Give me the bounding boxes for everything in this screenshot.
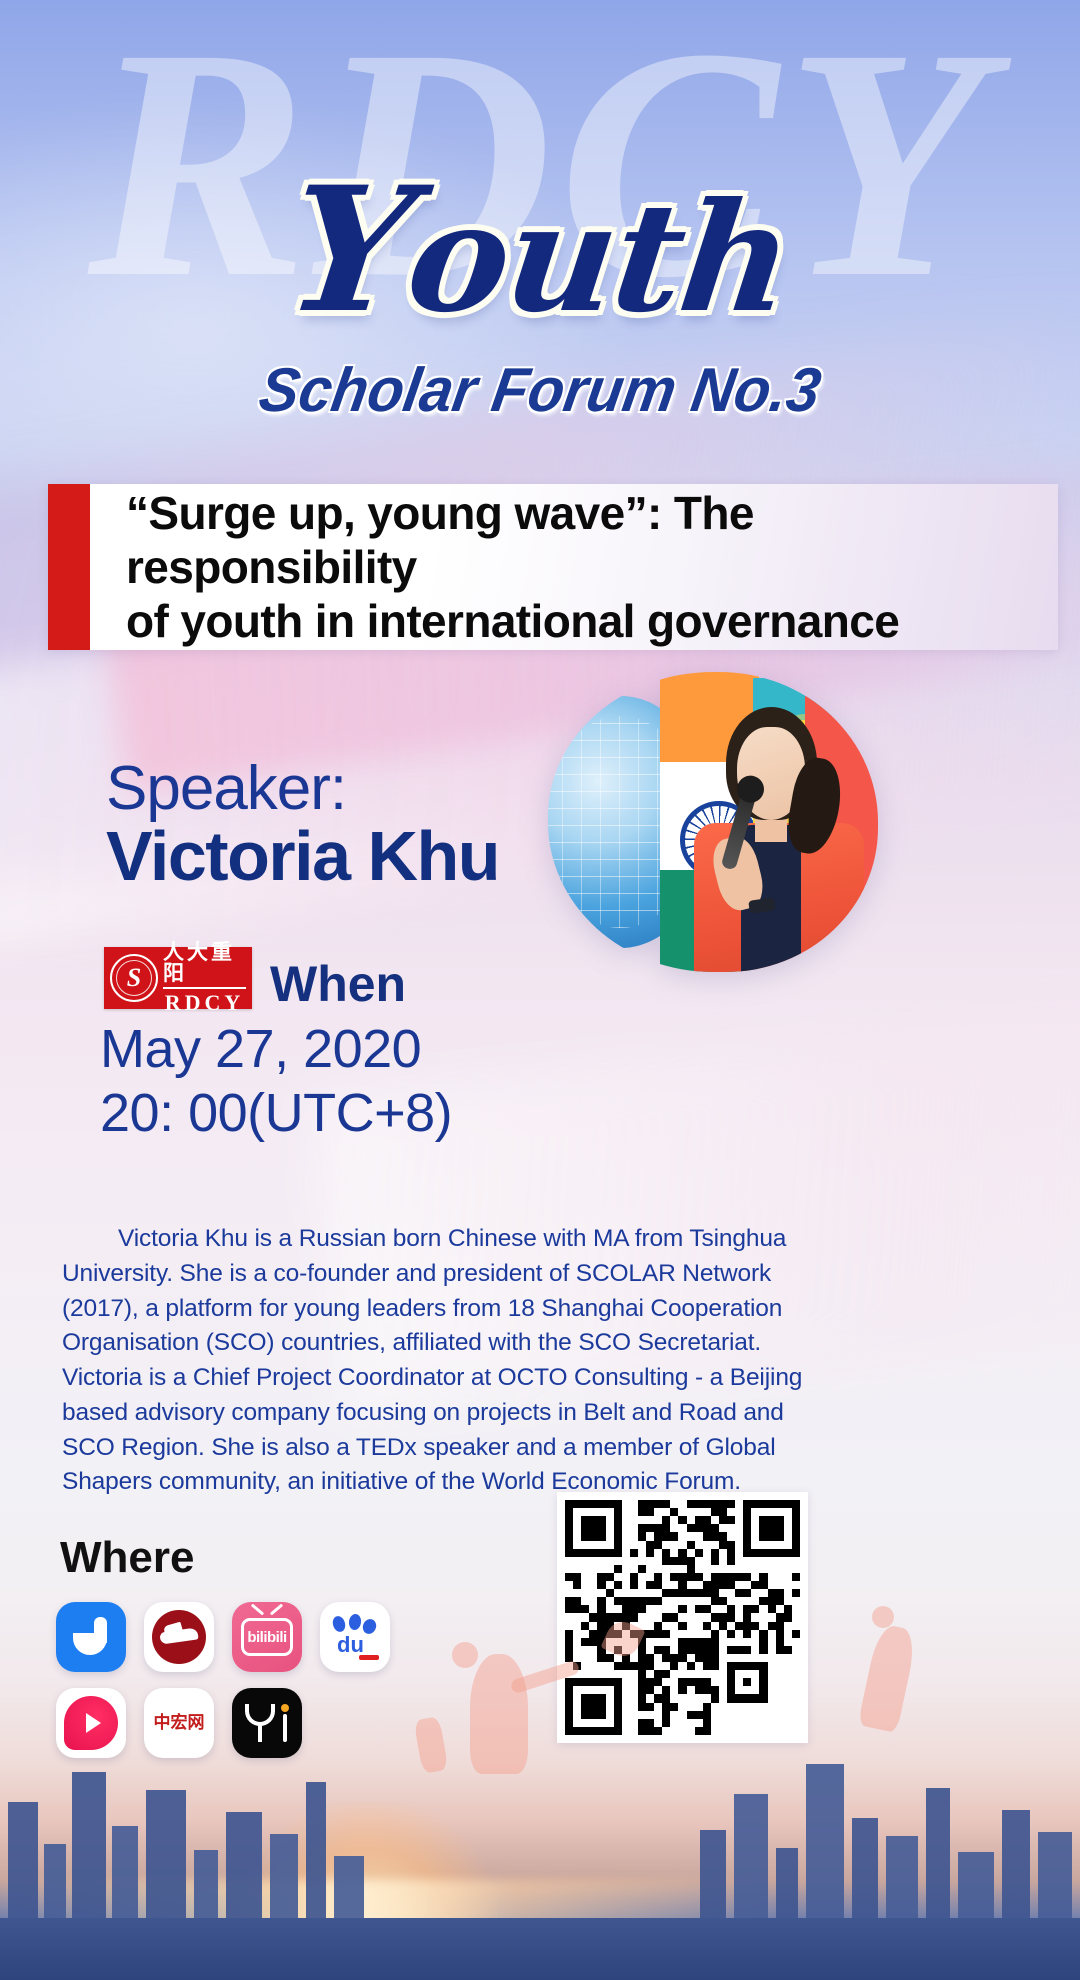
rdcy-logo: S 人大重阳 RDCY <box>104 947 252 1009</box>
person-silhouette <box>858 1623 919 1733</box>
banner-title: “Surge up, young wave”: The responsibili… <box>90 484 1058 650</box>
speaker-figure <box>680 690 878 972</box>
title-banner: “Surge up, young wave”: The responsibili… <box>48 484 1058 650</box>
building <box>958 1852 994 1922</box>
when-date: May 27, 2020 <box>100 1018 421 1080</box>
person-silhouette <box>470 1654 528 1774</box>
rdcy-logo-chinese: 人大重阳 <box>163 942 246 987</box>
forum-subtitle: Scholar Forum No.3 <box>21 355 1058 426</box>
building <box>852 1818 878 1922</box>
building <box>886 1836 918 1922</box>
speaker-bio: Victoria Khu is a Russian born Chinese w… <box>62 1222 818 1500</box>
person-silhouette-head <box>872 1606 894 1628</box>
building <box>776 1848 798 1922</box>
building <box>112 1826 138 1922</box>
building <box>334 1856 364 1922</box>
speaker-photo <box>548 672 878 972</box>
poster-root: RDCY Youth Scholar Forum No.3 “Surge up,… <box>0 0 1080 1980</box>
building <box>44 1844 66 1922</box>
youth-title: Youth <box>280 168 800 331</box>
rdcy-seal-letter: S <box>127 965 141 991</box>
banner-title-line-1: “Surge up, young wave”: The responsibili… <box>126 486 1032 595</box>
building <box>700 1830 726 1922</box>
person-silhouette-head <box>452 1642 478 1668</box>
when-time: 20: 00(UTC+8) <box>100 1082 452 1144</box>
speaker-photo-frame <box>548 672 878 972</box>
speaker-name: Victoria Khu <box>106 816 499 896</box>
building <box>1038 1832 1072 1922</box>
banner-title-line-2: of youth in international governance <box>126 594 1032 648</box>
leaf-silhouette <box>600 1616 645 1661</box>
people-silhouettes <box>0 1620 1080 1830</box>
rdcy-seal-icon: S <box>110 954 158 1002</box>
when-label: When <box>270 955 406 1013</box>
speaker-label: Speaker: <box>106 753 346 824</box>
banner-accent-bar <box>48 484 90 650</box>
horizon-glow <box>0 1880 1080 1926</box>
rdcy-logo-english: RDCY <box>163 987 246 1014</box>
person-silhouette <box>414 1716 449 1774</box>
youth-title-wrap: Youth <box>0 168 1080 331</box>
ground-band <box>0 1918 1080 1980</box>
person-arm <box>510 1660 581 1695</box>
building <box>194 1850 218 1922</box>
rdcy-logo-text: 人大重阳 RDCY <box>163 942 246 1014</box>
building <box>270 1834 298 1922</box>
youth-title-rest: outh <box>399 170 800 346</box>
where-label: Where <box>60 1533 194 1583</box>
